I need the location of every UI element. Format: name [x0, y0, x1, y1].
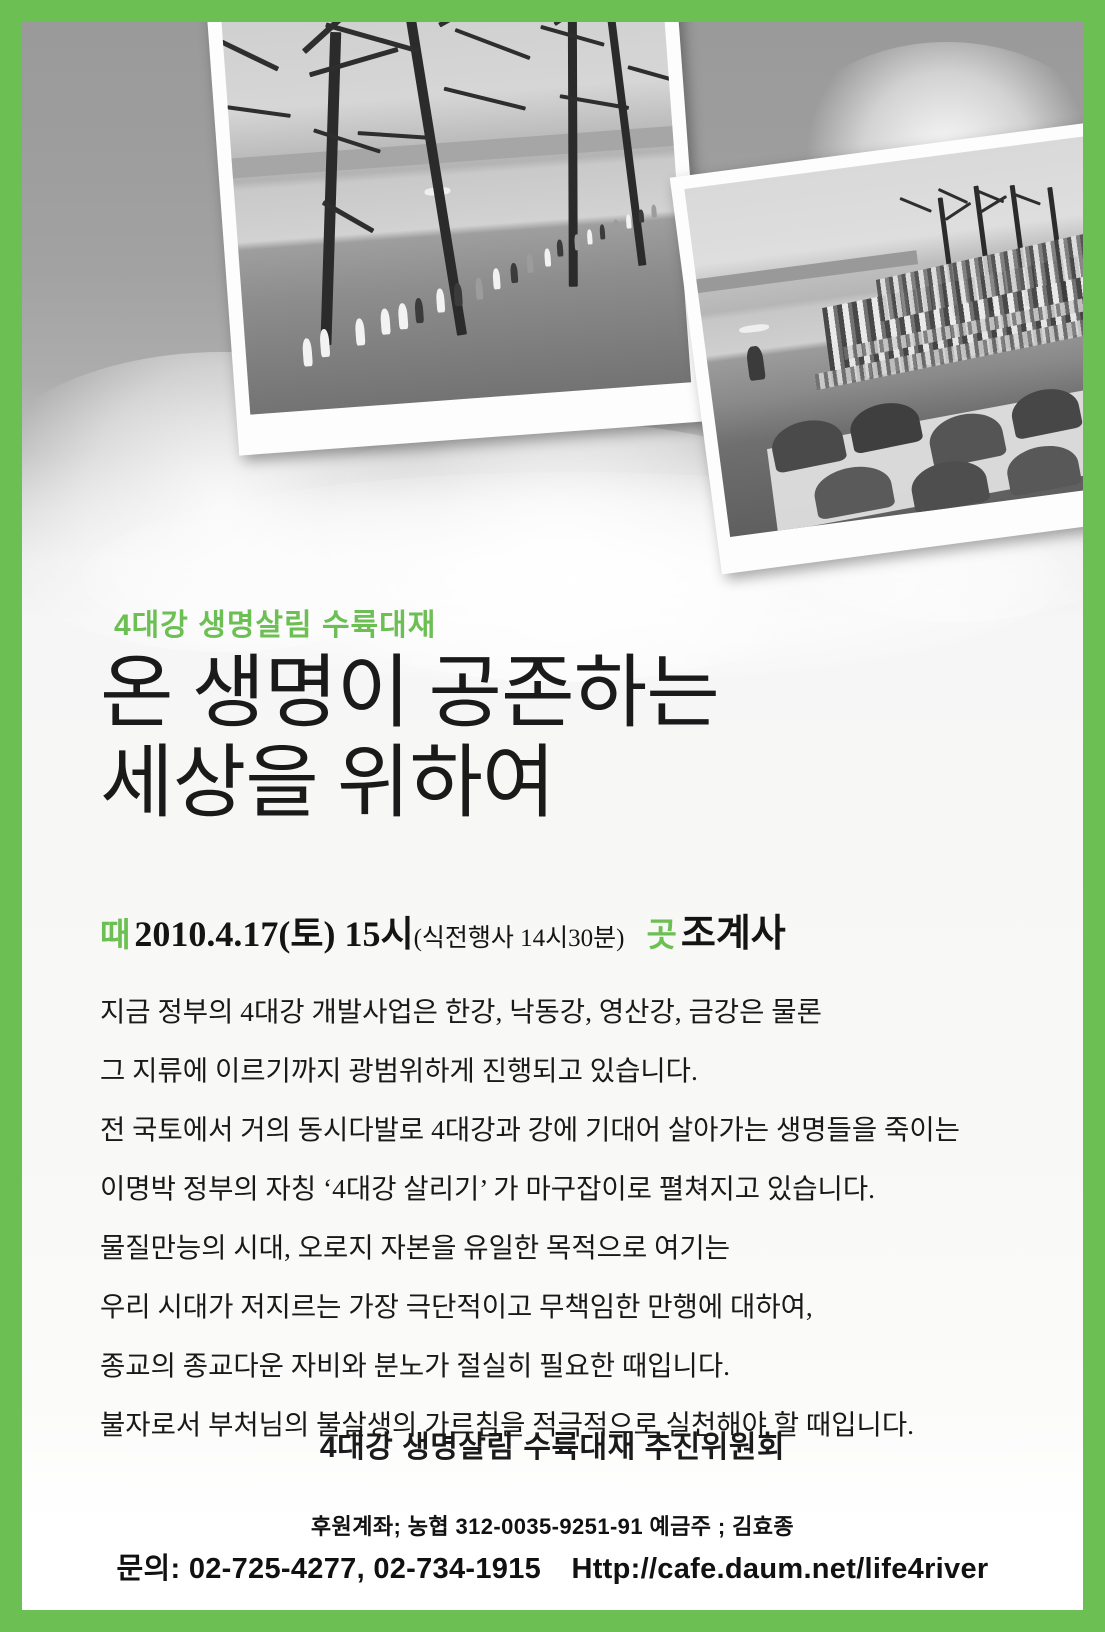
body-line: 전 국토에서 거의 동시다발로 4대강과 강에 기대어 살아가는 생명들을 죽이… — [100, 1100, 1030, 1159]
body-line: 지금 정부의 4대강 개발사업은 한강, 낙동강, 영산강, 금강은 물론 — [100, 982, 1030, 1041]
poster-footer: 후원계좌; 농협 312-0035-9251-91 예금주 ; 김효종 문의: … — [22, 1510, 1083, 1592]
headline-line-2: 세상을 위하여 — [100, 740, 1000, 830]
event-venue: 조계사 — [681, 913, 786, 955]
poster-canvas: 4대강 생명살림 수륙대재 온 생명이 공존하는 세상을 위하여 때 2010.… — [22, 22, 1083, 1610]
contact-line: 문의: 02-725-4277, 02-734-1915 Http://cafe… — [22, 1546, 1083, 1592]
event-prelude: (식전행사 14시30분) — [414, 925, 625, 952]
phone-number-primary[interactable]: 02-725-4277, — [189, 1553, 365, 1585]
body-line: 그 지류에 이르기까지 광범위하게 진행되고 있습니다. — [100, 1041, 1030, 1100]
body-copy: 지금 정부의 4대강 개발사업은 한강, 낙동강, 영산강, 금강은 물론 그 … — [100, 982, 1030, 1454]
poster-root: 4대강 생명살림 수륙대재 온 생명이 공존하는 세상을 위하여 때 2010.… — [0, 0, 1105, 1632]
event-date: 2010.4.17(토) 15시 — [134, 914, 413, 954]
riverside-ceremony-image — [684, 136, 1083, 537]
where-marker-label: 곳 — [647, 916, 677, 953]
body-line: 이명박 정부의 자칭 ‘4대강 살리기’ 가 마구잡이로 펼쳐지고 있습니다. — [100, 1159, 1030, 1218]
riverside-ceremony-photo — [670, 122, 1083, 575]
phone-number-secondary[interactable]: 02-734-1915 — [373, 1553, 541, 1585]
bank-account-line: 후원계좌; 농협 312-0035-9251-91 예금주 ; 김효종 — [22, 1510, 1083, 1544]
organizer-name: 4대강 생명살림 수륙대재 추진위원회 — [22, 1422, 1083, 1466]
when-marker-label: 때 — [100, 916, 130, 953]
body-line: 물질만능의 시대, 오로지 자본을 유일한 목적으로 여기는 — [100, 1218, 1030, 1277]
website-url[interactable]: Http://cafe.daum.net/life4river — [571, 1553, 988, 1585]
contact-label: 문의: — [117, 1553, 181, 1585]
page-title: 온 생명이 공존하는 세상을 위하여 — [100, 650, 1000, 829]
when-where-line: 때 2010.4.17(토) 15시(식전행사 14시30분) 곳 조계사 — [100, 902, 786, 957]
event-eyebrow: 4대강 생명살림 수륙대재 — [114, 600, 436, 644]
body-line: 종교의 종교다운 자비와 분노가 절실히 필요한 때입니다. — [100, 1336, 1030, 1395]
headline-line-1: 온 생명이 공존하는 — [100, 650, 1000, 740]
body-line: 우리 시대가 저지르는 가장 극단적이고 무책임한 만행에 대하여, — [100, 1277, 1030, 1336]
